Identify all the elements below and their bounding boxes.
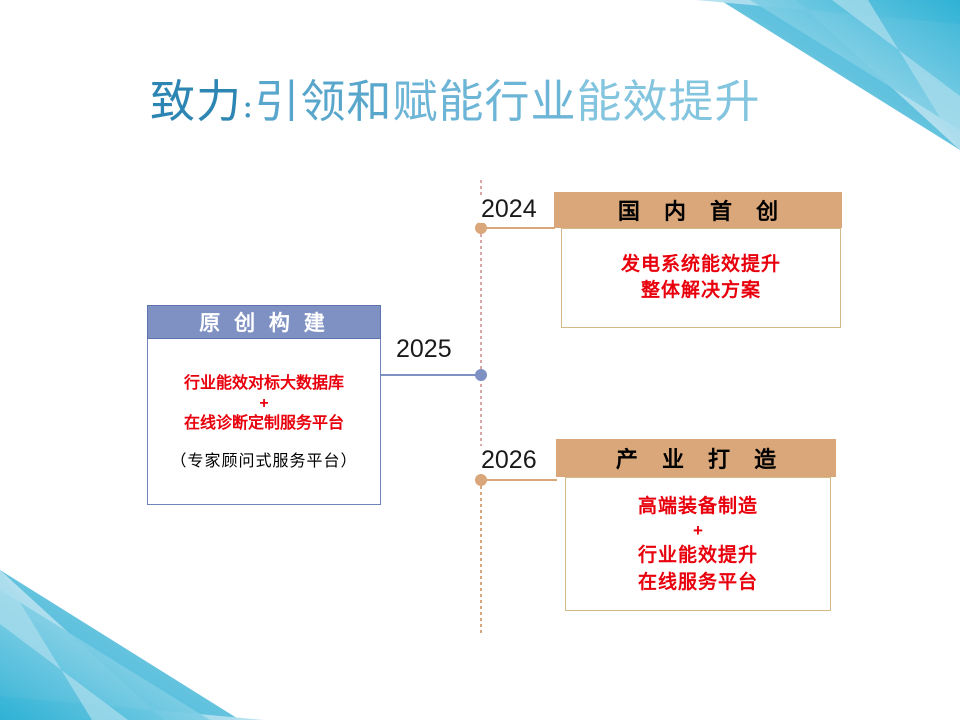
timeline-node-2025[interactable] xyxy=(475,369,487,381)
card-top-body: 发电系统能效提升 整体解决方案 xyxy=(561,228,841,328)
slide-canvas: 致力:引领和赋能行业能效提升 2024 2025 2026 原 创 构 建 行业… xyxy=(0,0,960,720)
corner-decoration-bottom-left xyxy=(0,570,360,720)
year-label-2024: 2024 xyxy=(479,195,539,223)
card-top-header: 国 内 首 创 xyxy=(554,192,842,228)
corner-decoration-svg-2 xyxy=(0,570,360,720)
timeline-node-2026[interactable] xyxy=(475,474,487,486)
card-top-line-1: 发电系统能效提升 xyxy=(621,252,781,278)
timeline-axis-lower xyxy=(480,480,482,636)
card-left-line-1: 行业能效对标大数据库 xyxy=(184,373,344,395)
card-bottom-line-3: 行业能效提升 xyxy=(638,542,758,569)
card-top-line-2: 整体解决方案 xyxy=(641,278,761,304)
connector-2026 xyxy=(481,479,557,481)
title-segment-2: : xyxy=(242,86,254,126)
card-left-line-3: 在线诊断定制服务平台 xyxy=(184,413,344,435)
page-title: 致力:引领和赋能行业能效提升 xyxy=(150,74,761,134)
card-domestic-first[interactable]: 国 内 首 创 发电系统能效提升 整体解决方案 xyxy=(554,192,842,328)
title-segment-3: 引领和 xyxy=(254,75,392,128)
card-industry-building[interactable]: 产 业 打 造 高端装备制造 + 行业能效提升 在线服务平台 xyxy=(556,439,836,611)
connector-2024 xyxy=(481,227,555,229)
card-bottom-body: 高端装备制造 + 行业能效提升 在线服务平台 xyxy=(565,477,831,611)
card-bottom-header: 产 业 打 造 xyxy=(556,439,836,477)
card-original-construction[interactable]: 原 创 构 建 行业能效对标大数据库 + 在线诊断定制服务平台 （专家顾问式服务… xyxy=(147,305,381,505)
card-left-body: 行业能效对标大数据库 + 在线诊断定制服务平台 （专家顾问式服务平台） xyxy=(147,339,381,505)
title-segment-4: 赋能行业 xyxy=(393,75,577,128)
connector-2025 xyxy=(381,374,481,376)
title-segment-5: 能效提升 xyxy=(577,75,761,128)
card-bottom-line-2: + xyxy=(693,520,703,542)
card-bottom-line-1: 高端装备制造 xyxy=(638,493,758,520)
year-label-2026: 2026 xyxy=(479,446,539,474)
card-left-line-2: + xyxy=(259,395,268,413)
card-left-line-4: （专家顾问式服务平台） xyxy=(170,451,357,473)
year-label-2025: 2025 xyxy=(394,335,454,363)
timeline-node-2024[interactable] xyxy=(475,222,487,234)
card-bottom-line-4: 在线服务平台 xyxy=(638,569,758,596)
card-left-header: 原 创 构 建 xyxy=(147,305,381,339)
title-segment-1: 致力 xyxy=(150,75,242,128)
